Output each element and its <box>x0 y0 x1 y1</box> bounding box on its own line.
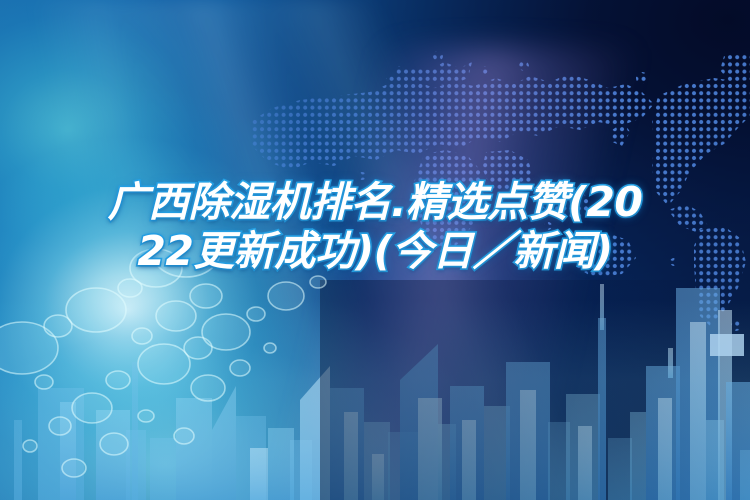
banner-title-container: 广西除湿机排名.精选点赞(2022更新成功)(今日／新闻) <box>0 178 750 276</box>
bubble-cluster-decor <box>0 240 430 500</box>
page-title: 广西除湿机排名.精选点赞(2022更新成功)(今日／新闻) <box>104 178 646 276</box>
corner-chip-decor <box>710 334 744 356</box>
promo-banner: 广西除湿机排名.精选点赞(2022更新成功)(今日／新闻) <box>0 0 750 500</box>
